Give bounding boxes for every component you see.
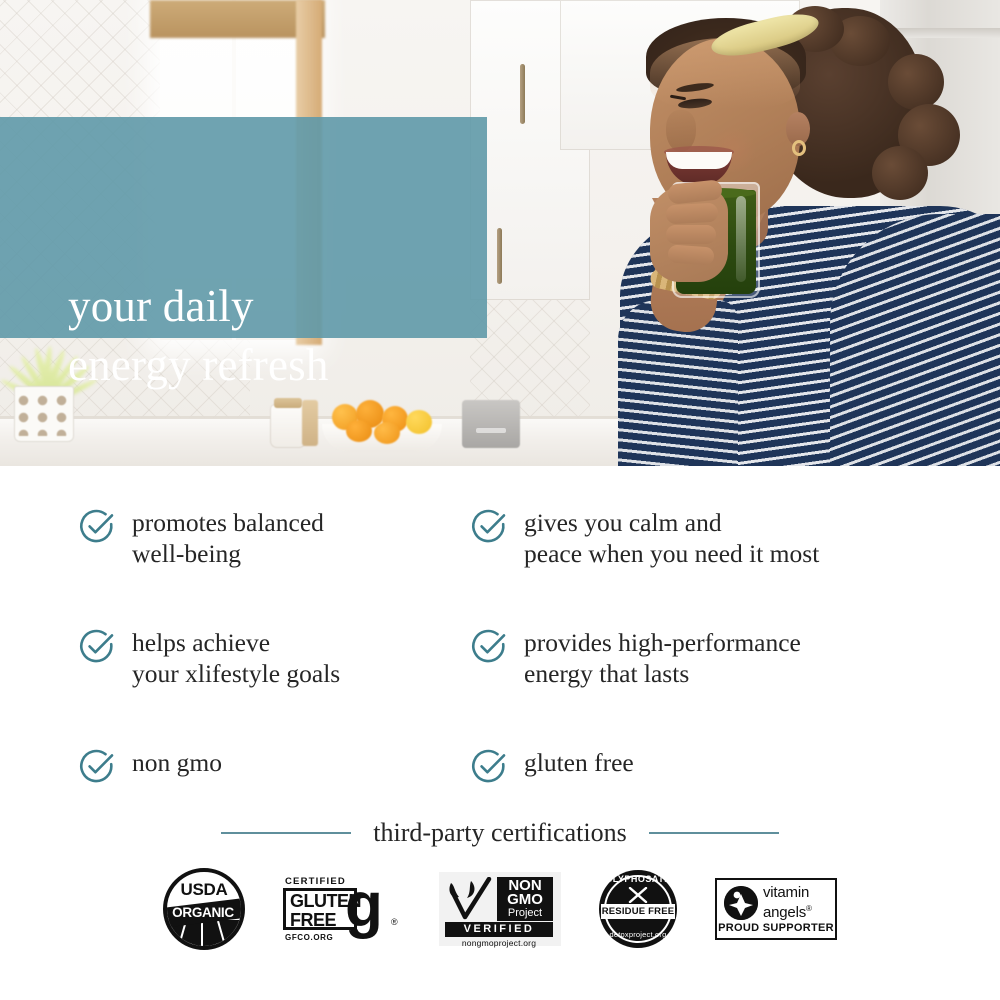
non-gmo-project-block: NON GMO Project bbox=[497, 877, 553, 921]
benefit-text: gives you calm and peace when you need i… bbox=[524, 505, 819, 569]
benefit-item: promotes balanced well-being bbox=[78, 505, 478, 569]
marketing-graphic: your daily energy refresh promotes balan… bbox=[0, 0, 1000, 1000]
usda-organic-label: ORGANIC bbox=[163, 903, 243, 923]
glyphosate-arc-top: GLYPHOSATE bbox=[599, 874, 677, 884]
cork-container bbox=[302, 400, 318, 446]
glyphosate-residue-free-badge: GLYPHOSATE RESIDUE FREE detoxproject.org bbox=[599, 870, 677, 948]
headline-line-2: energy refresh bbox=[68, 336, 488, 395]
vitamin-angels-name: vitamin angels® bbox=[763, 885, 812, 921]
certifications-header: third-party certifications bbox=[0, 818, 1000, 848]
benefit-item: non gmo bbox=[78, 745, 478, 785]
ngmo-line-3: Project bbox=[497, 907, 553, 920]
proud-supporter-label: PROUD SUPPORTER bbox=[717, 922, 835, 934]
check-circle-icon bbox=[78, 627, 116, 665]
benefit-line-2: energy that lasts bbox=[524, 658, 801, 689]
benefits-column-left: promotes balanced well-being helps achie… bbox=[78, 505, 478, 785]
benefit-line-1: gluten free bbox=[524, 748, 634, 777]
headline-line-1: your daily bbox=[68, 277, 488, 336]
crossed-x-icon bbox=[628, 887, 648, 903]
benefit-line-1: gives you calm and bbox=[524, 508, 722, 537]
benefit-line-1: provides high-performance bbox=[524, 628, 801, 657]
ngmo-line-2: GMO bbox=[497, 893, 553, 907]
check-circle-icon bbox=[470, 627, 508, 665]
check-circle-icon bbox=[78, 747, 116, 785]
gf-line-1: GLUTEN bbox=[286, 891, 354, 910]
non-gmo-badge: NON GMO Project VERIFIED nongmoproject.o… bbox=[439, 872, 561, 946]
benefit-line-2: your xlifestyle goals bbox=[132, 658, 340, 689]
gf-line-2: FREE bbox=[286, 910, 354, 929]
canister-lid bbox=[274, 398, 302, 408]
ngmo-url: nongmoproject.org bbox=[445, 938, 553, 948]
benefit-line-2: peace when you need it most bbox=[524, 538, 819, 569]
angel-star-icon bbox=[724, 886, 758, 920]
benefit-text: provides high-performance energy that la… bbox=[524, 625, 801, 689]
plant-pot-pattern bbox=[14, 392, 74, 436]
vitamin-angels-badge: vitamin angels® PROUD SUPPORTER bbox=[715, 878, 837, 940]
striped-shirt-shoulder bbox=[830, 214, 1000, 466]
finger bbox=[667, 244, 714, 265]
check-circle-icon bbox=[470, 747, 508, 785]
benefit-line-1: promotes balanced bbox=[132, 508, 324, 537]
gluten-free-box: GLUTEN FREE bbox=[283, 888, 357, 930]
woman-drinking-juice bbox=[500, 0, 1000, 466]
headline-band: your daily energy refresh bbox=[0, 117, 487, 338]
benefits-column-right: gives you calm and peace when you need i… bbox=[470, 505, 970, 785]
orange bbox=[374, 422, 400, 444]
usda-organic-badge: USDA ORGANIC bbox=[163, 868, 245, 950]
benefit-text: promotes balanced well-being bbox=[132, 505, 324, 569]
glyphosate-arc-bottom: detoxproject.org bbox=[599, 930, 677, 939]
registered-trademark-icon: ® bbox=[391, 917, 398, 927]
counter-canister bbox=[270, 404, 306, 448]
benefit-text: helps achieve your xlifestyle goals bbox=[132, 625, 340, 689]
glass-highlight bbox=[736, 196, 746, 282]
gluten-free-badge: CERTIFIED g GLUTEN FREE ® GFCO.ORG bbox=[283, 873, 401, 945]
registered-trademark-icon: ® bbox=[806, 904, 812, 913]
certification-badges: USDA ORGANIC CERTIFIED g GLUTEN FREE bbox=[0, 868, 1000, 950]
check-circle-icon bbox=[470, 507, 508, 545]
finger bbox=[666, 203, 719, 225]
gfco-url: GFCO.ORG bbox=[285, 933, 333, 942]
benefit-item: helps achieve your xlifestyle goals bbox=[78, 625, 478, 689]
lemon bbox=[406, 410, 432, 434]
check-circle-icon bbox=[78, 507, 116, 545]
hero-photo: your daily energy refresh bbox=[0, 0, 1000, 466]
gf-certified-label: CERTIFIED bbox=[285, 876, 346, 887]
benefit-text: gluten free bbox=[524, 745, 634, 778]
ngmo-verified-bar: VERIFIED bbox=[445, 922, 553, 937]
benefit-text: non gmo bbox=[132, 745, 222, 778]
certifications-title: third-party certifications bbox=[351, 818, 648, 848]
residue-free-bar: RESIDUE FREE bbox=[601, 904, 675, 919]
benefit-item: provides high-performance energy that la… bbox=[470, 625, 970, 689]
divider-rule-right bbox=[649, 832, 779, 834]
divider-rule-left bbox=[221, 832, 351, 834]
benefit-item: gives you calm and peace when you need i… bbox=[470, 505, 970, 569]
usda-label: USDA bbox=[167, 880, 241, 900]
benefit-line-2: well-being bbox=[132, 538, 324, 569]
headline-text-wrap: your daily energy refresh bbox=[68, 277, 488, 394]
va-line-2: angels bbox=[763, 904, 806, 921]
finger bbox=[666, 225, 716, 244]
butterfly-checkmark-icon bbox=[445, 877, 495, 921]
orange bbox=[346, 420, 372, 442]
va-line-1: vitamin bbox=[763, 885, 812, 901]
earring bbox=[792, 140, 806, 156]
benefit-item: gluten free bbox=[470, 745, 970, 785]
benefit-line-1: non gmo bbox=[132, 748, 222, 777]
benefit-line-1: helps achieve bbox=[132, 628, 270, 657]
